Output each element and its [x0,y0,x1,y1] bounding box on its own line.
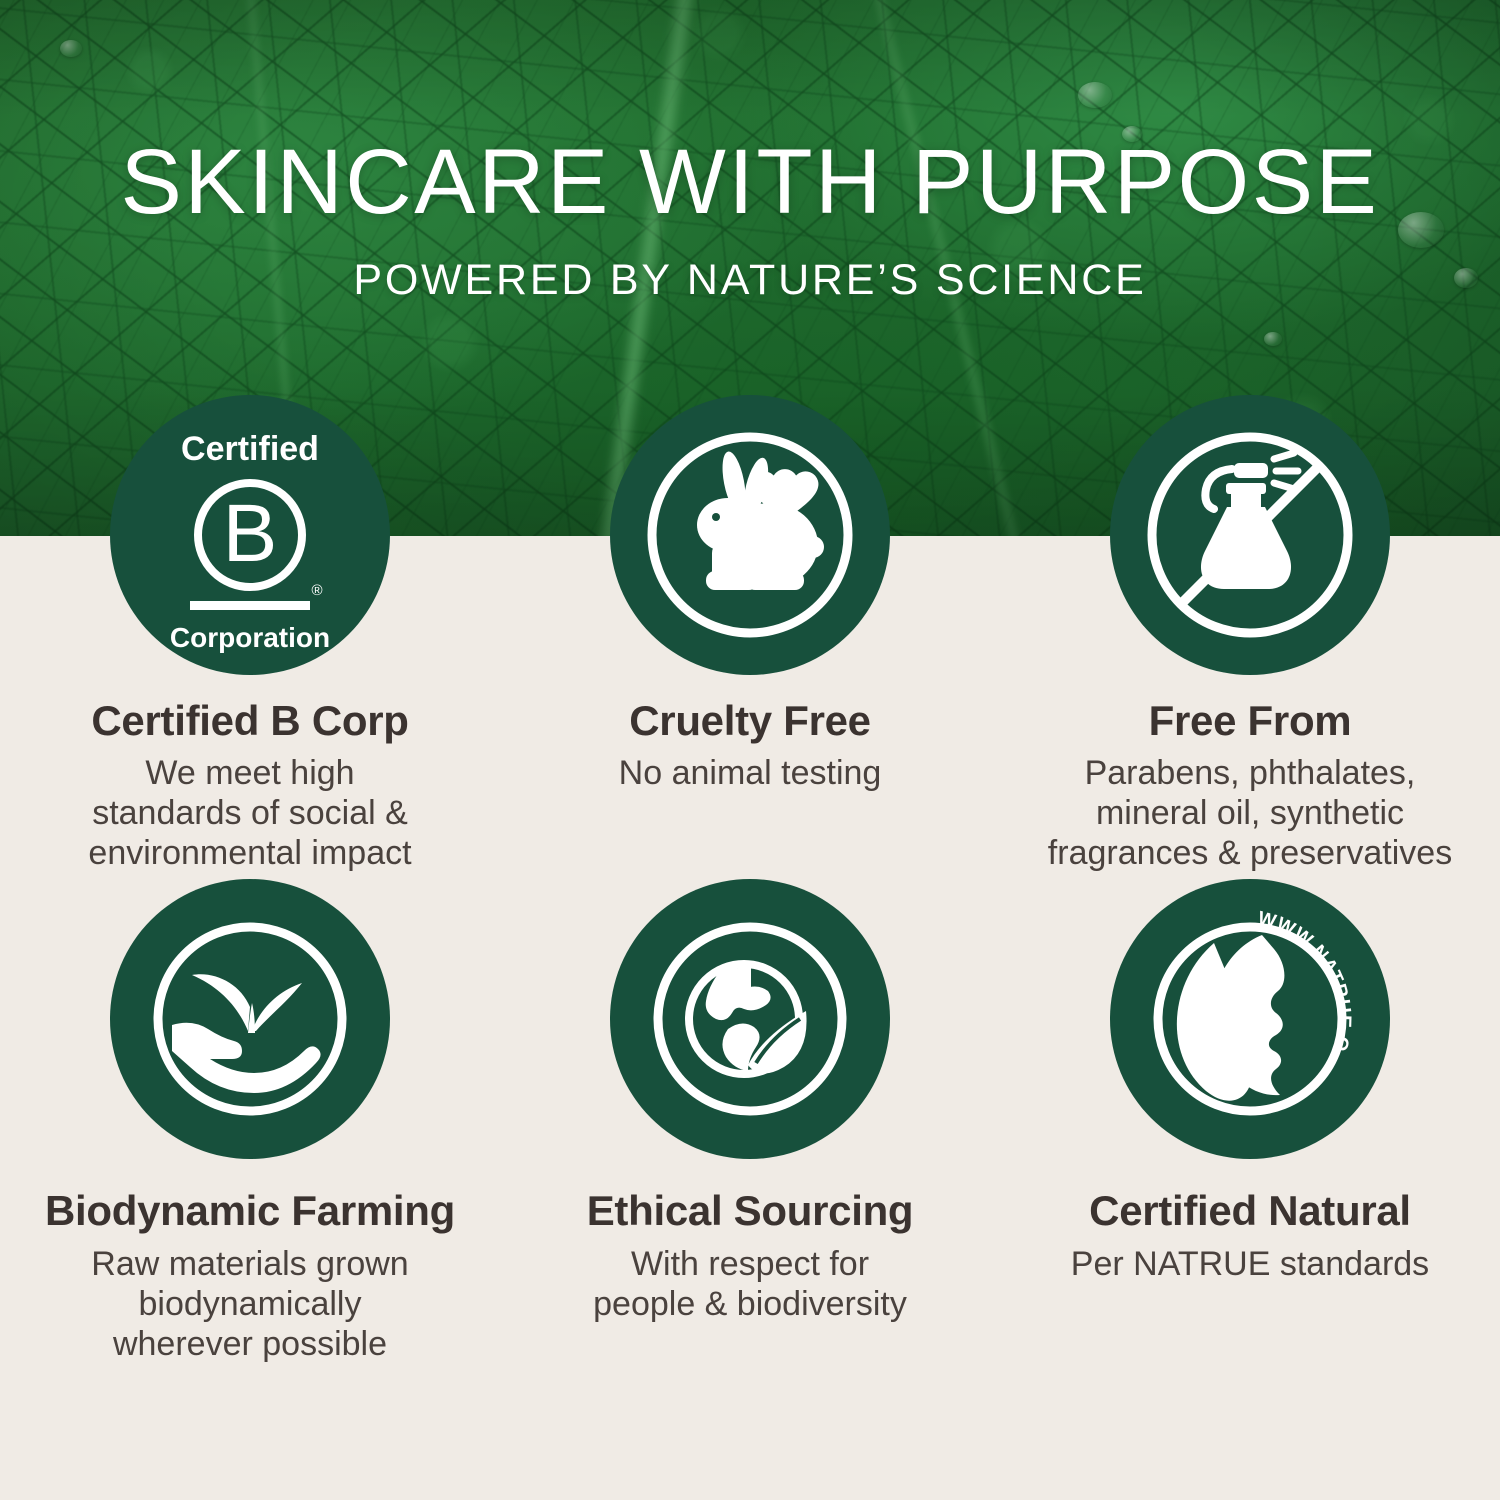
badge-body: Parabens, phthalates, mineral oil, synth… [1048,753,1452,873]
badge-certified-b-corp: Certified B ® Corporation Certified B Co… [0,395,500,873]
badge-disc [110,879,390,1159]
b-corp-letter: B [223,488,278,579]
sprout-glyph [192,975,302,1034]
badge-title: Cruelty Free [629,699,871,743]
hand-sprout-icon [110,879,390,1159]
page-subtitle: POWERED BY NATURE’S SCIENCE [0,256,1500,305]
badge-body: No animal testing [619,753,882,793]
no-spray-bottle-icon [1110,395,1390,675]
hero-text-block: SKINCARE WITH PURPOSE POWERED BY NATURE’… [0,0,1500,305]
badge-body: We meet high standards of social & envir… [88,753,411,873]
badge-disc [610,879,890,1159]
badge-biodynamic-farming: Biodynamic Farming Raw materials grown b… [0,879,500,1363]
badge-ethical-sourcing: Ethical Sourcing With respect for people… [500,879,1000,1363]
b-corp-certified-icon: Certified B ® Corporation [110,395,390,675]
badge-title: Certified B Corp [91,699,408,743]
b-corp-top-label: Certified [181,430,319,468]
b-corp-divider-rule [190,601,310,610]
b-corp-bottom-label: Corporation [170,622,330,653]
badge-free-from: Free From Parabens, phthalates, mineral … [1000,395,1500,873]
natrue-seal-icon: WWW.NATRUE.ORG [1110,879,1390,1159]
rabbit-heart-icon [610,395,890,675]
rabbit-eye [712,513,720,521]
badge-title: Certified Natural [1089,1189,1411,1233]
hand-glyph [172,1023,321,1093]
badge-title: Ethical Sourcing [587,1189,914,1233]
certification-badge-grid: Certified B ® Corporation Certified B Co… [0,395,1500,1364]
page-title: SKINCARE WITH PURPOSE [0,136,1500,228]
badge-body: Raw materials grown biodynamically where… [91,1244,408,1364]
badge-body: With respect for people & biodiversity [593,1244,907,1324]
globe-leaf-icon [610,879,890,1159]
badge-title: Biodynamic Farming [45,1189,455,1233]
badge-certified-natural: WWW.NATRUE.ORG Certified Natural Per NAT… [1000,879,1500,1363]
badge-cruelty-free: Cruelty Free No animal testing [500,395,1000,873]
badge-disc: WWW.NATRUE.ORG [1110,879,1390,1159]
badge-disc [610,395,890,675]
badge-body: Per NATRUE standards [1071,1244,1429,1284]
b-corp-registered-mark: ® [311,582,322,599]
badge-disc: Certified B ® Corporation [110,395,390,675]
badge-disc [1110,395,1390,675]
badge-title: Free From [1149,699,1352,743]
